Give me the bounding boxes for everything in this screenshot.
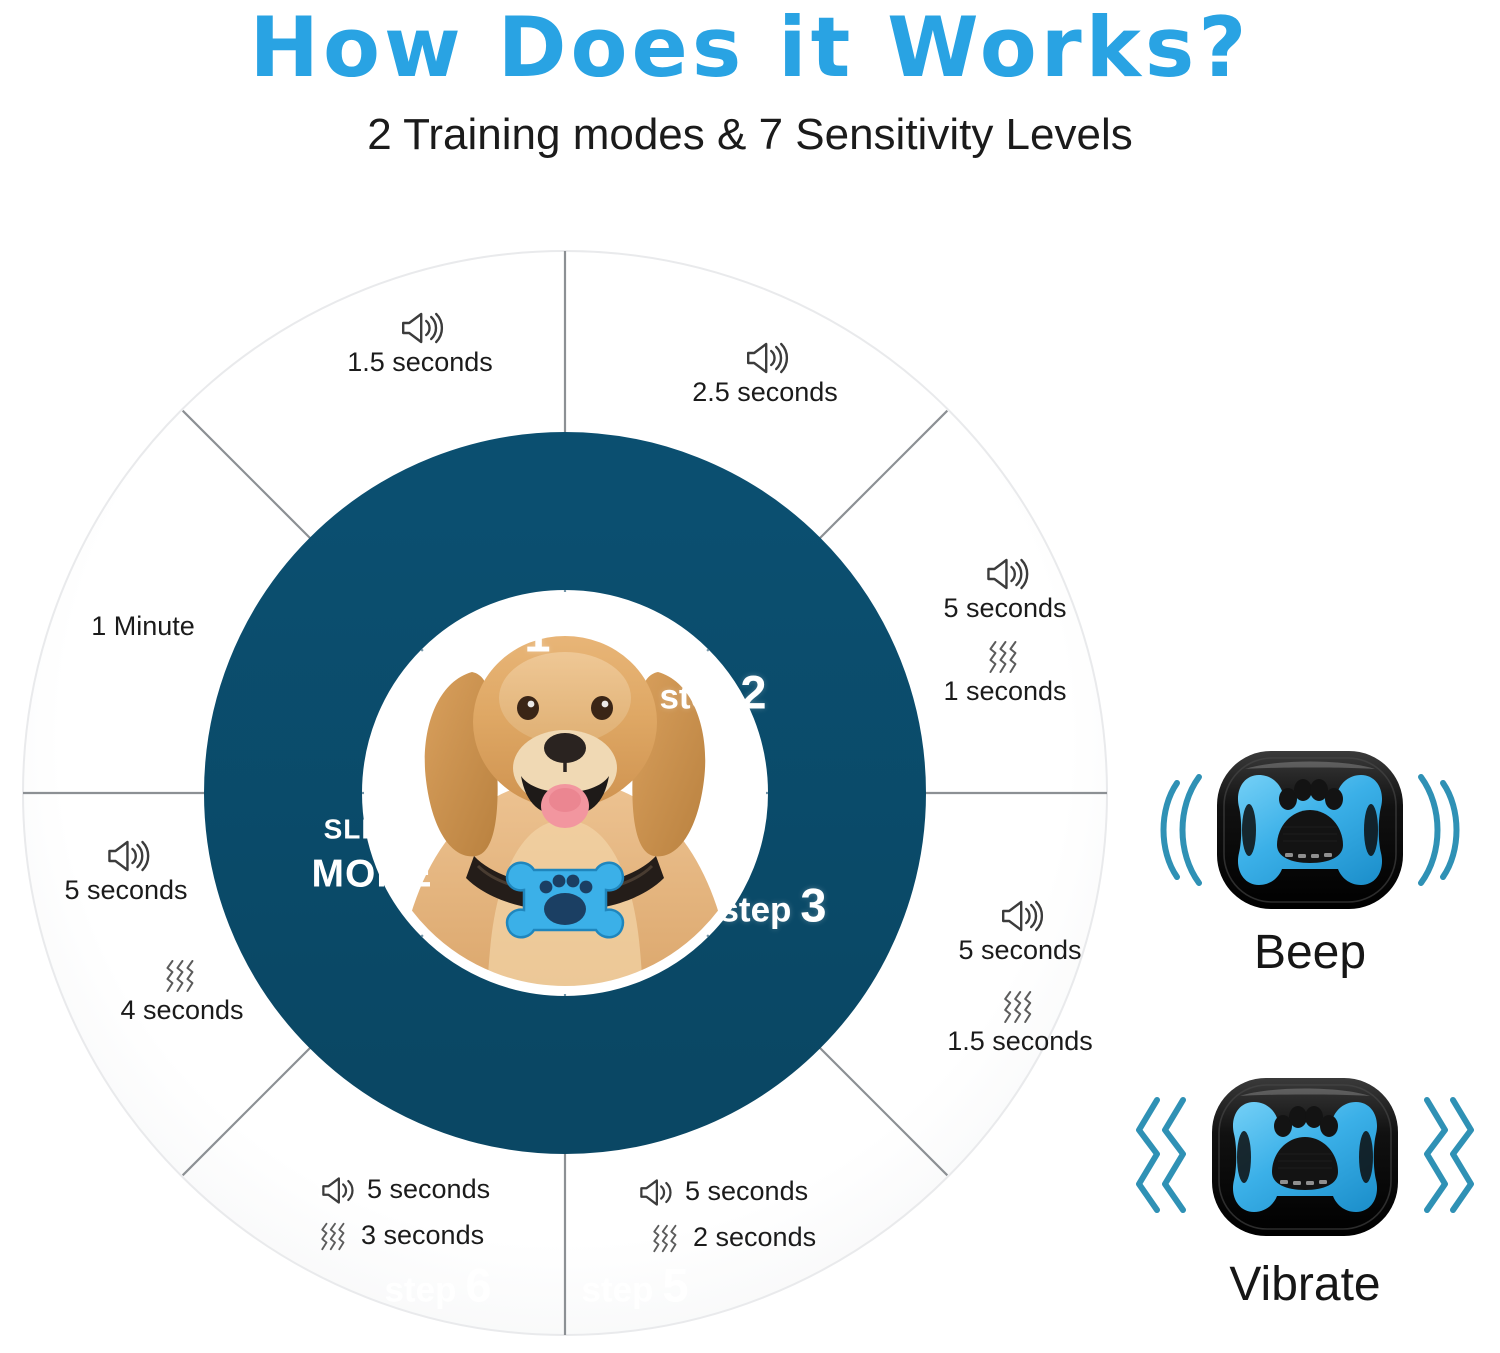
beep-device-graphic — [1125, 735, 1495, 925]
outer-label-step5: 5 seconds 2 seconds — [636, 1175, 816, 1254]
outer-label-sleep: 1 Minute — [91, 610, 195, 643]
speaker-icon — [64, 838, 187, 874]
ring-label-step5: step5 — [581, 1258, 688, 1313]
outer-label-step4: 5 seconds 1.5 seconds — [947, 898, 1093, 1058]
paw-print-icon — [1277, 779, 1343, 863]
sound-arc-icon — [1421, 777, 1457, 883]
vibrate-icon — [650, 1220, 684, 1253]
vibrate-icon — [943, 639, 1066, 675]
wheel-graphic — [0, 220, 1130, 1353]
speaker-icon — [636, 1175, 676, 1208]
speaker-icon — [692, 340, 838, 376]
speaker-icon — [947, 898, 1093, 934]
outer-label-step1: 1.5 seconds — [347, 310, 493, 379]
vibrate-zigzag-icon — [1427, 1100, 1471, 1210]
training-wheel-diagram: step1 step2 step3 step4 step5 step6 step… — [0, 220, 1130, 1353]
beep-caption: Beep — [1125, 925, 1495, 980]
collar-device-on-dog — [507, 863, 623, 938]
ring-label-step6: step6 — [384, 1258, 491, 1313]
page-subtitle: 2 Training modes & 7 Sensitivity Levels — [0, 110, 1500, 160]
sound-arc-icon — [1164, 777, 1200, 883]
page-title: How Does it Works? — [0, 4, 1500, 91]
speaker-icon — [943, 556, 1066, 592]
vibrate-caption: Vibrate — [1115, 1257, 1495, 1312]
speaker-icon — [318, 1173, 358, 1206]
ring-label-step1: step1 — [443, 608, 550, 663]
ring-label-step2: step2 — [659, 665, 766, 720]
mode-beep: Beep — [1125, 735, 1495, 970]
outer-label-step6: 5 seconds 3 seconds — [318, 1173, 490, 1252]
vibrate-icon — [318, 1218, 352, 1251]
outer-label-step7: 5 seconds — [64, 838, 187, 907]
paw-print-icon — [1272, 1106, 1338, 1190]
ring-label-sleep-mode: SLEEP MONE — [312, 814, 433, 897]
vibrate-zigzag-icon — [1139, 1100, 1183, 1210]
vibrate-device-graphic — [1115, 1062, 1495, 1252]
mode-vibrate: Vibrate — [1115, 1062, 1495, 1297]
infographic-page: How Does it Works? 2 Training modes & 7 … — [0, 0, 1500, 1353]
vibrate-icon — [120, 958, 243, 994]
outer-label-step7-vibrate: 4 seconds — [120, 958, 243, 1027]
speaker-icon — [347, 310, 493, 346]
outer-label-step3: 5 seconds 1 seconds — [943, 556, 1066, 708]
ring-label-step3: step3 — [719, 878, 826, 933]
vibrate-icon — [947, 989, 1093, 1025]
outer-label-step2: 2.5 seconds — [692, 340, 838, 409]
